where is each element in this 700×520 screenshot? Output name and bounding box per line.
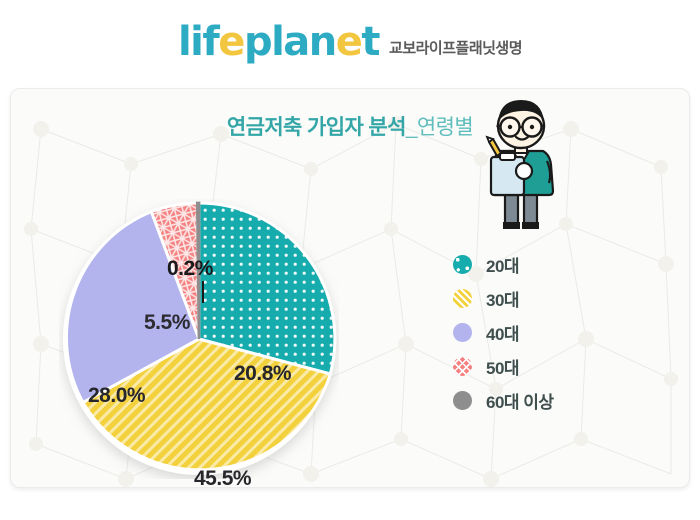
legend-item-60s-plus[interactable]: 60대 이상 xyxy=(453,383,633,417)
pie-value-label-30s: 45.5% xyxy=(194,467,251,488)
pie-value-label-50s: 5.5% xyxy=(144,311,190,335)
legend-swatch-dots-icon xyxy=(453,255,472,274)
legend-swatch-solid-purple-icon xyxy=(453,323,472,342)
legend-swatch-solid-gray-icon xyxy=(453,391,472,410)
legend-label-60s-plus: 60대 이상 xyxy=(486,388,554,413)
chart-card: 연금저축 가입자 분석_연령별 xyxy=(10,88,690,488)
legend-label-40s: 40대 xyxy=(486,320,519,345)
pie-chart: 20.8% 45.5% 28.0% 5.5% 0.2% xyxy=(59,199,339,479)
pie-value-label-40s: 28.0% xyxy=(88,384,145,408)
legend-swatch-crosshatch-icon xyxy=(453,357,472,376)
pie-chart-svg xyxy=(59,199,339,479)
pie-value-label-60s-plus: 0.2% xyxy=(167,257,213,281)
legend-item-30s[interactable]: 30대 xyxy=(453,281,633,315)
legend-label-50s: 50대 xyxy=(486,354,519,379)
analyst-character-illustration xyxy=(467,95,577,240)
logo-text-part2: plan xyxy=(244,22,336,62)
page-title: 연금저축 가입자 분석_연령별 xyxy=(11,111,689,141)
logo-text-part1: lif xyxy=(178,22,218,62)
legend-swatch-stripes-icon xyxy=(453,289,472,308)
page-header: lifeplanet 교보라이프플래닛생명 xyxy=(0,0,700,84)
chart-legend: 20대 30대 40대 50대 60대 이상 xyxy=(453,247,633,417)
legend-label-30s: 30대 xyxy=(486,286,519,311)
logo-text-e1: e xyxy=(218,22,244,62)
pie-value-label-20s: 20.8% xyxy=(234,362,291,386)
legend-label-20s: 20대 xyxy=(486,252,519,277)
legend-item-40s[interactable]: 40대 xyxy=(453,315,633,349)
logo-text-part3: t xyxy=(361,22,379,62)
legend-item-50s[interactable]: 50대 xyxy=(453,349,633,383)
brand-subtitle: 교보라이프플래닛생명 xyxy=(389,27,522,58)
lifeplanet-logo: lifeplanet xyxy=(178,22,379,62)
pie-leader-line-60s-plus xyxy=(202,281,204,303)
chart-title-main: 연금저축 가입자 분석 xyxy=(227,116,406,139)
logo-text-e2: e xyxy=(336,22,362,62)
legend-item-20s[interactable]: 20대 xyxy=(453,247,633,281)
chart-title-sub: _연령별 xyxy=(406,116,473,139)
